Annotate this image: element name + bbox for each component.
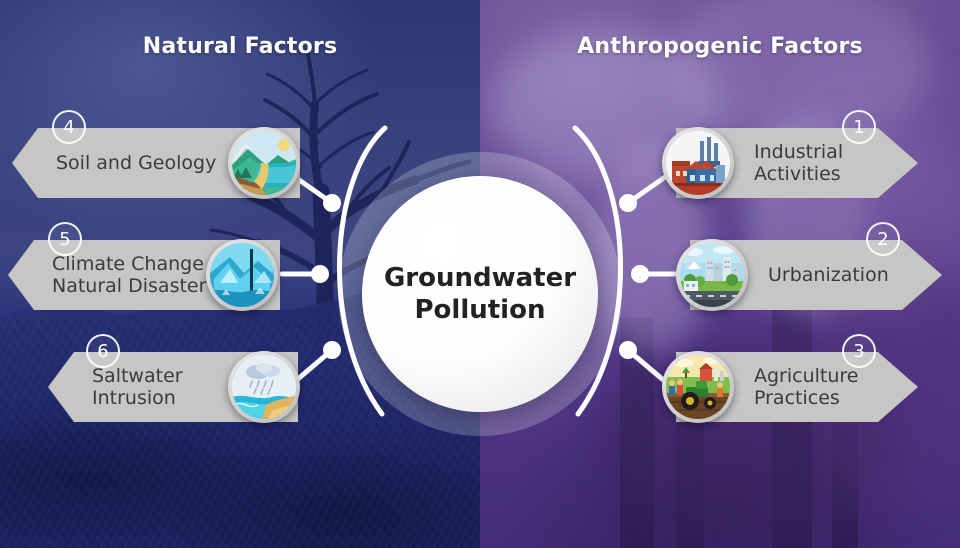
chip-label: Soil and Geology <box>56 152 216 174</box>
left-section-title: Natural Factors <box>0 34 480 59</box>
chip-number-badge: 5 <box>48 222 82 256</box>
chip-number-badge: 3 <box>842 334 876 368</box>
tractor-farm-icon <box>662 351 734 423</box>
chip-number-badge: 4 <box>52 110 86 144</box>
chip-number-badge: 2 <box>866 222 900 256</box>
chip-label: Urbanization <box>768 264 889 286</box>
center-hub: Groundwater Pollution <box>362 176 598 412</box>
chip-label: Saltwater Intrusion <box>92 365 183 410</box>
right-section-title: Anthropogenic Factors <box>480 34 960 59</box>
chip-label: Industrial Activities <box>754 141 843 186</box>
mountain-lake-landscape-icon <box>228 127 300 199</box>
chip-label: Agriculture Practices <box>754 365 859 410</box>
hub-title-line2: Pollution <box>384 294 576 327</box>
factory-icon <box>662 127 734 199</box>
chip-label: Climate Change Natural Disaster <box>52 253 206 298</box>
infographic-canvas: Natural Factors Anthropogenic Factors Gr… <box>0 0 960 548</box>
rain-coastline-icon <box>228 351 300 423</box>
chip-number-badge: 1 <box>842 110 876 144</box>
hub-title: Groundwater Pollution <box>384 262 576 327</box>
glacier-iceberg-icon <box>206 239 278 311</box>
chip-number-badge: 6 <box>86 334 120 368</box>
hub-title-line1: Groundwater <box>384 262 576 295</box>
city-skyline-icon <box>676 239 748 311</box>
